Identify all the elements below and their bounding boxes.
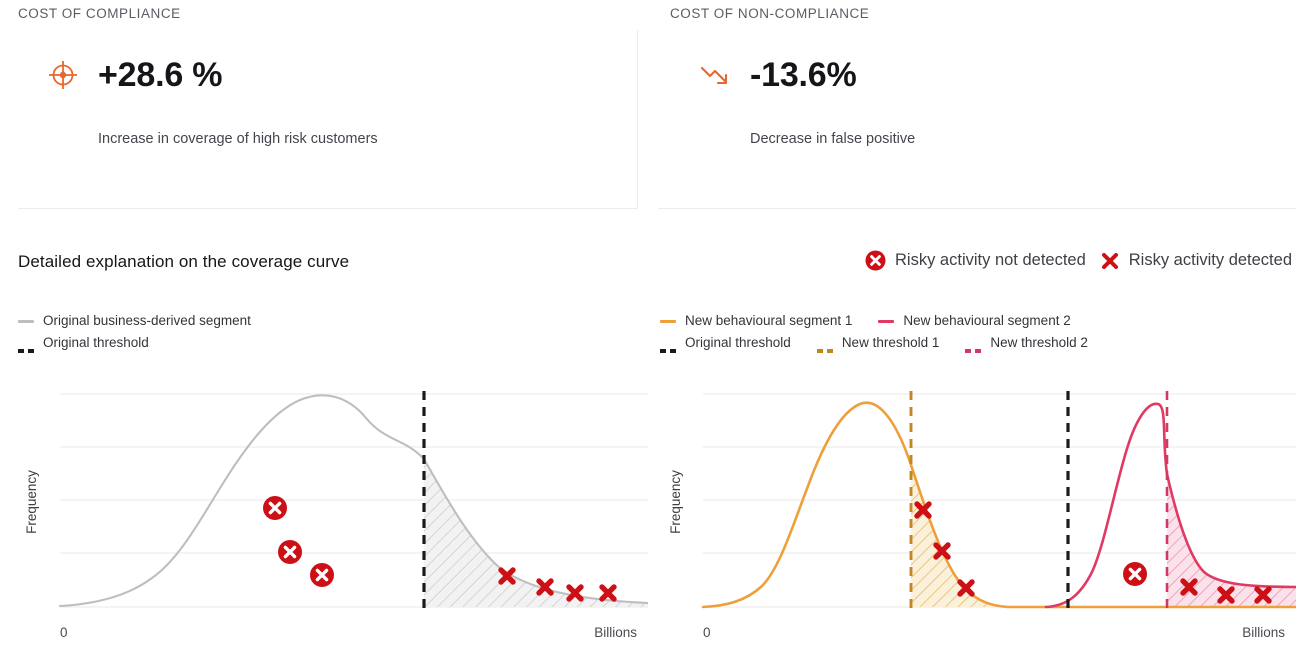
curve-original-segment	[60, 395, 648, 606]
circled-x-icon	[865, 250, 886, 271]
marker-circled-x	[1123, 562, 1147, 586]
kpi-value-row: -13.6%	[698, 58, 857, 92]
section-title: Detailed explanation on the coverage cur…	[18, 252, 349, 272]
legend-row: Original threshold New threshold 1 New t…	[660, 332, 1296, 354]
shaded-region-segment-1	[911, 465, 1000, 607]
legend-swatch-solid	[878, 320, 894, 323]
kpi-card-cost-of-non-compliance: COST OF NON-COMPLIANCE -13.6% Decrease i…	[658, 0, 1296, 209]
legend-swatch-solid	[660, 320, 676, 323]
x-tick-label-start: 0	[60, 625, 68, 640]
x-tick-label-end: Billions	[594, 625, 637, 640]
legend-swatch-dashed	[18, 341, 34, 345]
legend-item-behavioural-segment-1: New behavioural segment 1	[660, 314, 852, 328]
y-axis-label: Frequency	[668, 470, 683, 534]
kpi-subtitle: Increase in coverage of high risk custom…	[98, 131, 378, 147]
x-icon	[1100, 251, 1120, 271]
legend-label: New behavioural segment 2	[903, 314, 1070, 328]
dashboard-page: COST OF COMPLIANCE +28.6 % Increase in c…	[0, 0, 1296, 645]
gridlines	[60, 394, 648, 607]
legend-swatch-dashed	[965, 341, 981, 345]
legend-item-original-threshold: Original threshold	[660, 336, 791, 350]
kpi-row: COST OF COMPLIANCE +28.6 % Increase in c…	[0, 0, 1296, 210]
legend-label: Risky activity detected	[1129, 251, 1292, 270]
legend-item-new-threshold-1: New threshold 1	[817, 336, 940, 350]
legend-left: Original business-derived segment Origin…	[18, 310, 638, 354]
legend-label: Original business-derived segment	[43, 314, 251, 328]
legend-swatch-dashed	[817, 341, 833, 345]
marker-circled-x	[310, 563, 334, 587]
kpi-underline-left	[18, 208, 638, 209]
marker-legend: Risky activity not detected Risky activi…	[865, 250, 1292, 271]
legend-label: Original threshold	[685, 336, 791, 350]
chart-coverage-curve-original: Frequency 0 Billions	[0, 382, 648, 645]
kpi-value: -13.6%	[750, 58, 857, 92]
legend-item-new-threshold-2: New threshold 2	[965, 336, 1088, 350]
legend-row: New behavioural segment 1 New behavioura…	[660, 310, 1296, 332]
legend-label: New threshold 2	[990, 336, 1088, 350]
y-axis-label: Frequency	[24, 470, 39, 534]
legend-swatch-solid	[18, 320, 34, 323]
legend-row: Original threshold	[18, 332, 638, 354]
target-icon	[46, 58, 80, 92]
legend-row: Original business-derived segment	[18, 310, 638, 332]
legend-right: New behavioural segment 1 New behavioura…	[660, 310, 1296, 354]
marker-circled-x	[263, 496, 287, 520]
marker-x	[602, 587, 614, 599]
legend-label: Original threshold	[43, 336, 149, 350]
kpi-value-row: +28.6 %	[46, 58, 222, 92]
legend-risky-detected: Risky activity detected	[1100, 251, 1292, 271]
kpi-value: +28.6 %	[98, 58, 222, 92]
kpi-card-cost-of-compliance: COST OF COMPLIANCE +28.6 % Increase in c…	[0, 0, 638, 209]
legend-risky-not-detected: Risky activity not detected	[865, 250, 1086, 271]
legend-item-original-threshold: Original threshold	[18, 336, 149, 350]
kpi-subtitle: Decrease in false positive	[750, 131, 915, 147]
legend-swatch-dashed	[660, 341, 676, 345]
x-tick-label-end: Billions	[1242, 625, 1285, 640]
chart-coverage-curve-behavioural: Frequency 0 Billions	[648, 382, 1296, 645]
kpi-eyebrow: COST OF NON-COMPLIANCE	[670, 6, 869, 21]
marker-circled-x	[278, 540, 302, 564]
legend-item-original-segment: Original business-derived segment	[18, 314, 251, 328]
x-tick-label-start: 0	[703, 625, 711, 640]
legend-label: New behavioural segment 1	[685, 314, 852, 328]
legend-label: New threshold 1	[842, 336, 940, 350]
legend-label: Risky activity not detected	[895, 251, 1086, 270]
kpi-vertical-divider	[637, 30, 638, 208]
legend-item-behavioural-segment-2: New behavioural segment 2	[878, 314, 1070, 328]
kpi-eyebrow: COST OF COMPLIANCE	[18, 6, 181, 21]
trend-down-arrow-icon	[698, 58, 732, 92]
